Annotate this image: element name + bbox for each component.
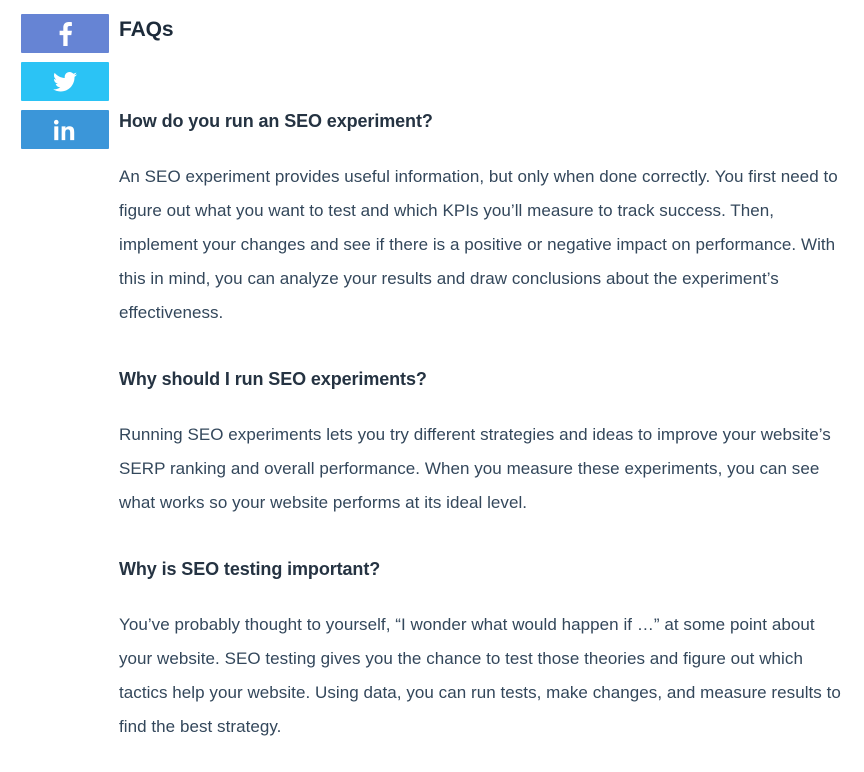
faq-answer-1: An SEO experiment provides useful inform… — [119, 160, 844, 330]
facebook-icon — [59, 22, 72, 46]
social-share-rail — [21, 14, 109, 149]
page-title: FAQs — [119, 16, 844, 44]
faq-question-2: Why should I run SEO experiments? — [119, 366, 844, 392]
faq-article: FAQs How do you run an SEO experiment? A… — [119, 0, 844, 744]
share-button-linkedin[interactable] — [21, 110, 109, 149]
share-button-twitter[interactable] — [21, 62, 109, 101]
faq-answer-2: Running SEO experiments lets you try dif… — [119, 418, 844, 520]
twitter-icon — [53, 72, 77, 92]
faq-answer-3: You’ve probably thought to yourself, “I … — [119, 608, 844, 744]
faq-question-3: Why is SEO testing important? — [119, 556, 844, 582]
faq-item-1: How do you run an SEO experiment? An SEO… — [119, 108, 844, 330]
faq-item-3: Why is SEO testing important? You’ve pro… — [119, 556, 844, 744]
share-button-facebook[interactable] — [21, 14, 109, 53]
faq-item-2: Why should I run SEO experiments? Runnin… — [119, 366, 844, 520]
faq-question-1: How do you run an SEO experiment? — [119, 108, 844, 134]
linkedin-icon — [54, 119, 76, 141]
